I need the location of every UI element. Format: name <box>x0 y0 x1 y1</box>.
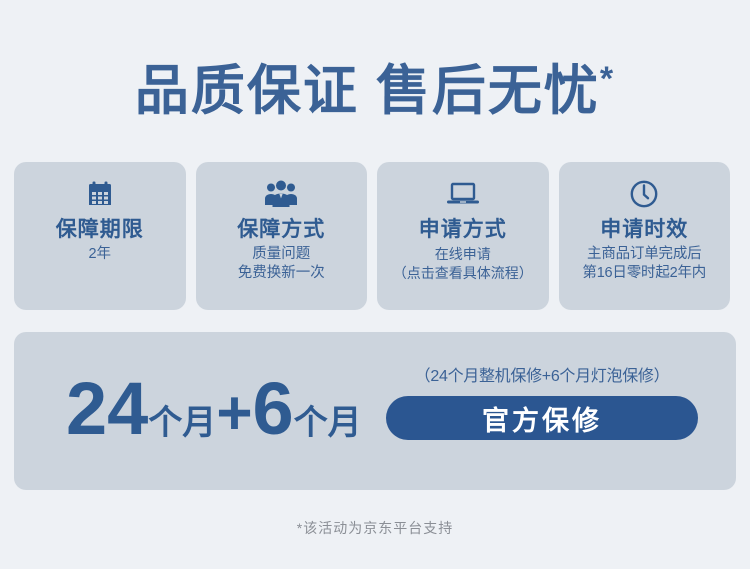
feature-card-detail-line: 2年 <box>88 245 111 264</box>
plus-operator: + <box>216 379 252 448</box>
warranty-months-extra-unit: 个月 <box>294 404 362 442</box>
page-title-text: 品质保证 售后无忧 <box>135 61 600 121</box>
feature-card-title: 申请时效 <box>600 216 688 244</box>
warranty-breakdown-note: （24个月整机保修+6个月灯泡保修） <box>386 366 698 388</box>
feature-card-title: 保障期限 <box>56 216 144 244</box>
feature-card-detail: 2年 <box>88 245 111 264</box>
feature-card-detail: 主商品订单完成后 第16日零时起2年内 <box>582 245 706 283</box>
official-warranty-badge[interactable]: 官方保修 <box>386 396 698 440</box>
feature-card-title: 申请方式 <box>419 216 507 244</box>
warranty-months-main-unit: 个月 <box>148 404 216 442</box>
page-title-asterisk: * <box>600 60 615 98</box>
feature-card-application-window[interactable]: 申请时效 主商品订单完成后 第16日零时起2年内 <box>559 162 731 310</box>
feature-card-detail: 在线申请 （点击查看具体流程） <box>393 245 533 283</box>
feature-card-detail-link[interactable]: （点击查看具体流程） <box>393 264 533 283</box>
laptop-icon <box>445 174 481 214</box>
clock-icon <box>628 174 660 214</box>
feature-card-detail: 质量问题 免费换新一次 <box>238 245 325 283</box>
feature-card-detail-line: 主商品订单完成后 <box>582 245 706 264</box>
calendar-icon <box>85 174 115 214</box>
warranty-months-extra: 6 <box>253 367 294 450</box>
warranty-term-display: 24个月+6个月 <box>66 372 362 446</box>
warranty-summary-panel: 24个月+6个月 （24个月整机保修+6个月灯泡保修） 官方保修 <box>14 332 736 490</box>
feature-card-row: 保障期限 2年 保障方式 质量问题 免费换新一次 <box>14 162 730 310</box>
feature-card-title: 保障方式 <box>237 216 325 244</box>
feature-card-detail-line: 免费换新一次 <box>238 264 325 283</box>
users-group-icon <box>263 174 299 214</box>
warranty-promo-page: 品质保证 售后无忧* <box>0 0 750 569</box>
feature-card-application-method[interactable]: 申请方式 在线申请 （点击查看具体流程） <box>377 162 549 310</box>
feature-card-detail-line: 第16日零时起2年内 <box>582 264 706 283</box>
feature-card-detail-line: 在线申请 <box>393 245 533 264</box>
footer-disclaimer: *该活动为京东平台支持 <box>0 518 750 538</box>
warranty-breakdown: （24个月整机保修+6个月灯泡保修） 官方保修 <box>386 366 698 440</box>
warranty-months-main: 24 <box>66 367 148 450</box>
feature-card-detail-line: 质量问题 <box>238 245 325 264</box>
page-title: 品质保证 售后无忧* <box>0 48 750 122</box>
feature-card-warranty-period[interactable]: 保障期限 2年 <box>14 162 186 310</box>
feature-card-warranty-method[interactable]: 保障方式 质量问题 免费换新一次 <box>196 162 368 310</box>
